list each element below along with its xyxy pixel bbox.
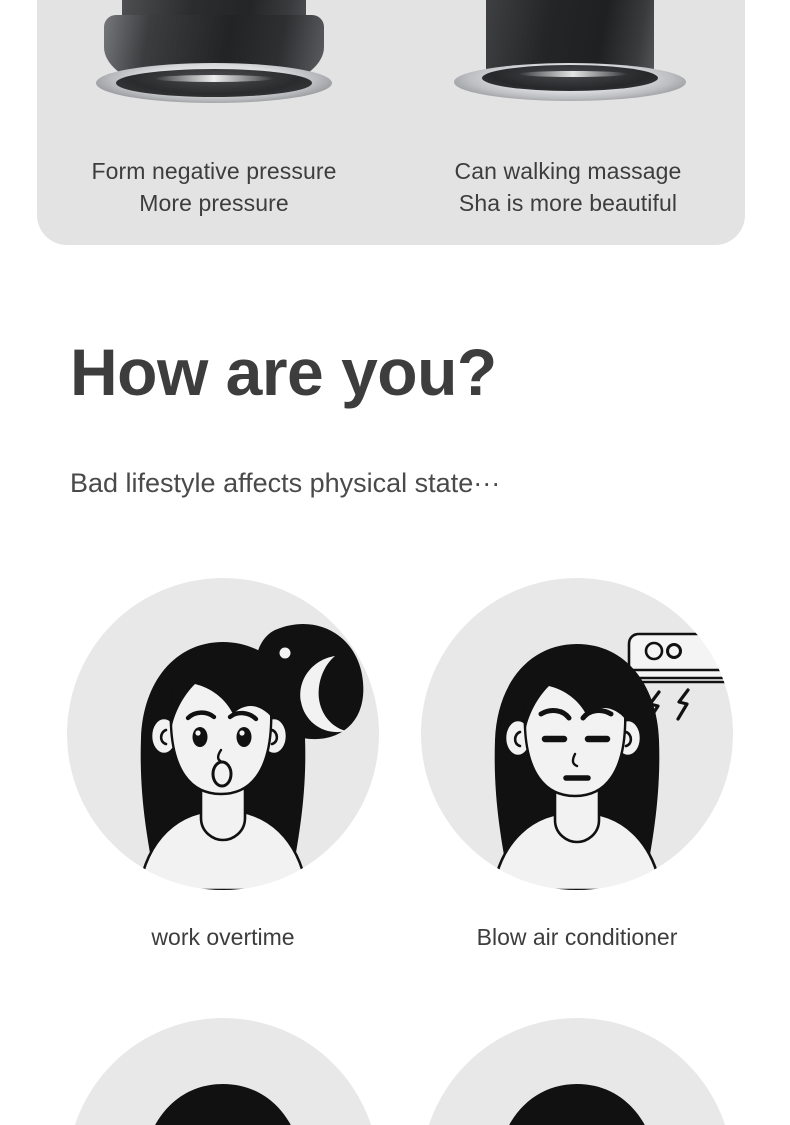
product-caption-1-line2: More pressure — [37, 187, 391, 219]
woman-partial-icon — [421, 1018, 733, 1125]
air-conditioner-unit-icon — [629, 634, 733, 682]
page-title: How are you? — [70, 339, 497, 405]
symptom-circle-air-conditioner — [421, 578, 733, 890]
product-caption-1: Form negative pressure More pressure — [37, 155, 391, 219]
woman-air-conditioner-icon — [421, 578, 733, 890]
symptom-circle-3 — [67, 1018, 379, 1125]
suction-cup-cylinder-icon — [448, 0, 688, 125]
product-cell-walking-massage: Can walking massage Sha is more beautifu… — [391, 0, 745, 245]
suction-cup-flared-icon — [94, 0, 334, 125]
symptom-caption-work-overtime: work overtime — [67, 920, 379, 954]
product-feature-card: Form negative pressure More pressure Can… — [37, 0, 745, 245]
product-caption-2-line1: Can walking massage — [391, 155, 745, 187]
product-caption-2: Can walking massage Sha is more beautifu… — [391, 155, 745, 219]
woman-partial-icon — [67, 1018, 379, 1125]
product-caption-1-line1: Form negative pressure — [37, 155, 391, 187]
symptom-circle-4 — [421, 1018, 733, 1125]
symptom-caption-air-conditioner: Blow air conditioner — [421, 920, 733, 954]
product-cell-negative-pressure: Form negative pressure More pressure — [37, 0, 391, 245]
page-subtitle: Bad lifestyle affects physical state··· — [70, 468, 500, 499]
product-caption-2-line2: Sha is more beautiful — [391, 187, 745, 219]
symptom-circle-work-overtime — [67, 578, 379, 890]
woman-night-moon-icon — [67, 578, 379, 890]
page-root: Form negative pressure More pressure Can… — [0, 0, 790, 1125]
product-grid: Form negative pressure More pressure Can… — [37, 0, 745, 245]
